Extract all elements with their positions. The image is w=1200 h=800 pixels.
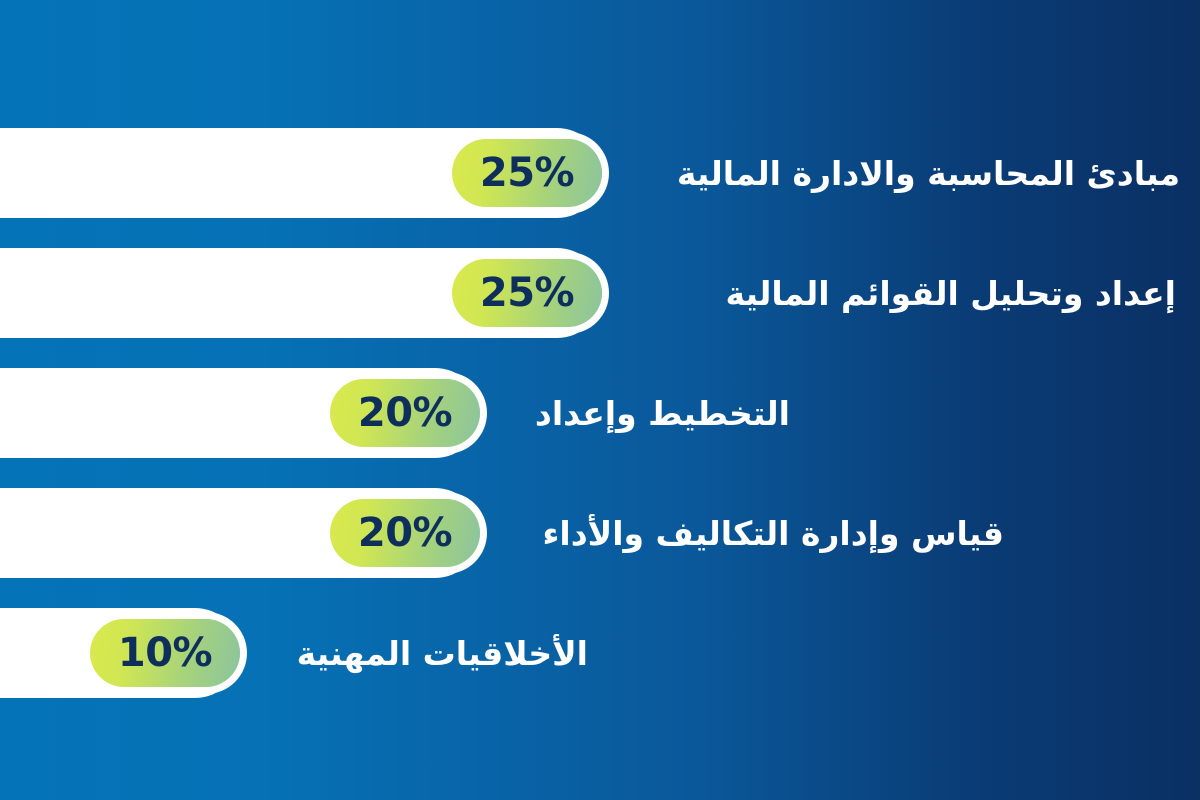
bar-category-label: الأخلاقيات المهنية — [297, 608, 588, 698]
bar-value-badge: 25% — [452, 139, 602, 207]
bar-value-label: 20% — [358, 393, 452, 433]
bar-value-label: 20% — [358, 513, 452, 553]
horizontal-bar-chart: 25% مبادئ المحاسبة والادارة المالية 25% … — [0, 0, 1200, 800]
bar-value-label: 25% — [480, 273, 574, 313]
bar-value-label: 25% — [480, 153, 574, 193]
bar-row: 25% إعداد وتحليل القوائم المالية — [0, 248, 1200, 338]
bar-value-badge: 25% — [452, 259, 602, 327]
bar-value-badge: 10% — [90, 619, 240, 687]
bar-category-label: إعداد وتحليل القوائم المالية — [725, 248, 1176, 338]
bar-value-label: 10% — [118, 633, 212, 673]
bar-row: 20% قياس وإدارة التكاليف والأداء — [0, 488, 1200, 578]
bar-category-label: مبادئ المحاسبة والادارة المالية — [677, 128, 1180, 218]
bar-value-badge: 20% — [330, 499, 480, 567]
bar-row: 25% مبادئ المحاسبة والادارة المالية — [0, 128, 1200, 218]
bar-row: 20% التخطيط وإعداد — [0, 368, 1200, 458]
bar-category-label: التخطيط وإعداد — [535, 368, 790, 458]
bar-category-label: قياس وإدارة التكاليف والأداء — [543, 488, 1004, 578]
bar-value-badge: 20% — [330, 379, 480, 447]
bar-row: 10% الأخلاقيات المهنية — [0, 608, 1200, 698]
